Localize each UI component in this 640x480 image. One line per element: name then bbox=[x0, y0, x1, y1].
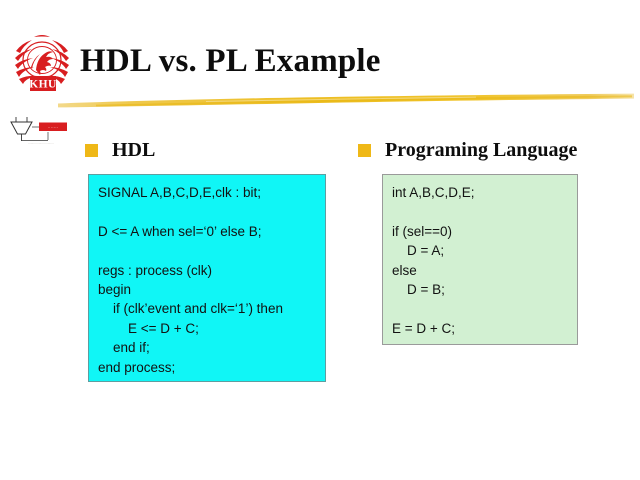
khu-emblem-icon: KHU bbox=[12, 31, 72, 93]
bullet-square-icon bbox=[85, 144, 98, 157]
khu-logo: KHU bbox=[12, 31, 72, 93]
bullet-square-icon bbox=[358, 144, 371, 157]
title-underline-brushstroke bbox=[56, 86, 636, 112]
bullet-label-hdl: HDL bbox=[112, 139, 155, 161]
bullet-label-pl: Programing Language bbox=[385, 139, 577, 161]
bullet-heading-hdl: HDL bbox=[85, 139, 155, 161]
page-title: HDL vs. PL Example bbox=[80, 42, 381, 80]
bullet-heading-pl: Programing Language bbox=[358, 139, 577, 161]
logic-gate-icon: ······· bbox=[8, 116, 72, 142]
slide-canvas: KHU HDL vs. PL Example bbox=[0, 0, 640, 480]
code-box-hdl: SIGNAL A,B,C,D,E,clk : bit; D <= A when … bbox=[88, 174, 326, 382]
gold-brush-icon bbox=[56, 86, 636, 112]
lab-logo-caption: ····························· bbox=[11, 142, 71, 145]
code-box-pl: int A,B,C,D,E; if (sel==0) D = A; else D… bbox=[382, 174, 578, 345]
lab-logo-tag-text: ······· bbox=[48, 125, 59, 130]
svg-text:KHU: KHU bbox=[29, 79, 57, 91]
lab-logo: ······· ····························· bbox=[8, 116, 72, 156]
